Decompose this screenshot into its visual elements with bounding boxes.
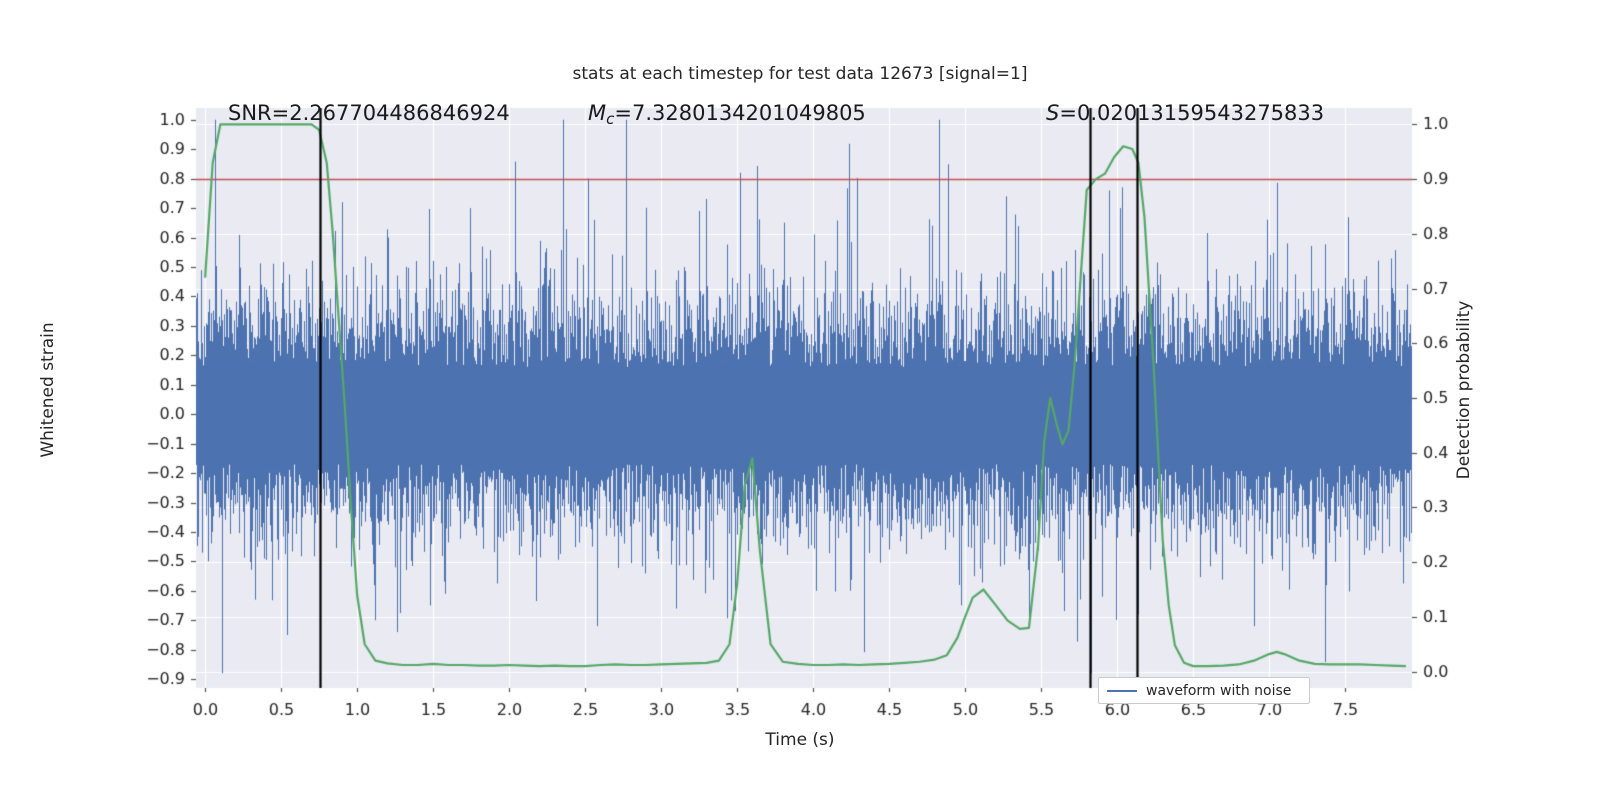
x-axis-label: Time (s) bbox=[0, 730, 1600, 750]
annotation-significance-value: 0.02013159543275833 bbox=[1077, 101, 1324, 125]
legend-swatch-waveform bbox=[1107, 690, 1137, 692]
annotation-significance-symbol: S bbox=[1046, 101, 1059, 125]
annotation-chirp-mass: Mc=7.3280134201049805 bbox=[588, 101, 866, 128]
y-axis-label-right: Detection probability bbox=[1454, 270, 1474, 510]
legend: waveform with noise bbox=[1098, 677, 1310, 704]
annotation-snr-prefix: SNR= bbox=[228, 101, 289, 125]
annotation-chirp-mass-value: 7.3280134201049805 bbox=[632, 101, 866, 125]
annotation-significance: S=0.02013159543275833 bbox=[1046, 101, 1324, 125]
annotation-chirp-mass-symbol: M bbox=[588, 101, 606, 125]
chart-title: stats at each timestep for test data 126… bbox=[0, 64, 1600, 84]
legend-label-waveform: waveform with noise bbox=[1146, 683, 1291, 699]
y-axis-label-left: Whitened strain bbox=[38, 270, 58, 510]
figure-container: stats at each timestep for test data 126… bbox=[0, 0, 1600, 800]
annotation-significance-equals: = bbox=[1059, 101, 1077, 125]
annotation-snr: SNR=2.267704486846924 bbox=[228, 101, 510, 125]
annotation-chirp-mass-equals: = bbox=[614, 101, 632, 125]
annotation-snr-value: 2.267704486846924 bbox=[289, 101, 509, 125]
